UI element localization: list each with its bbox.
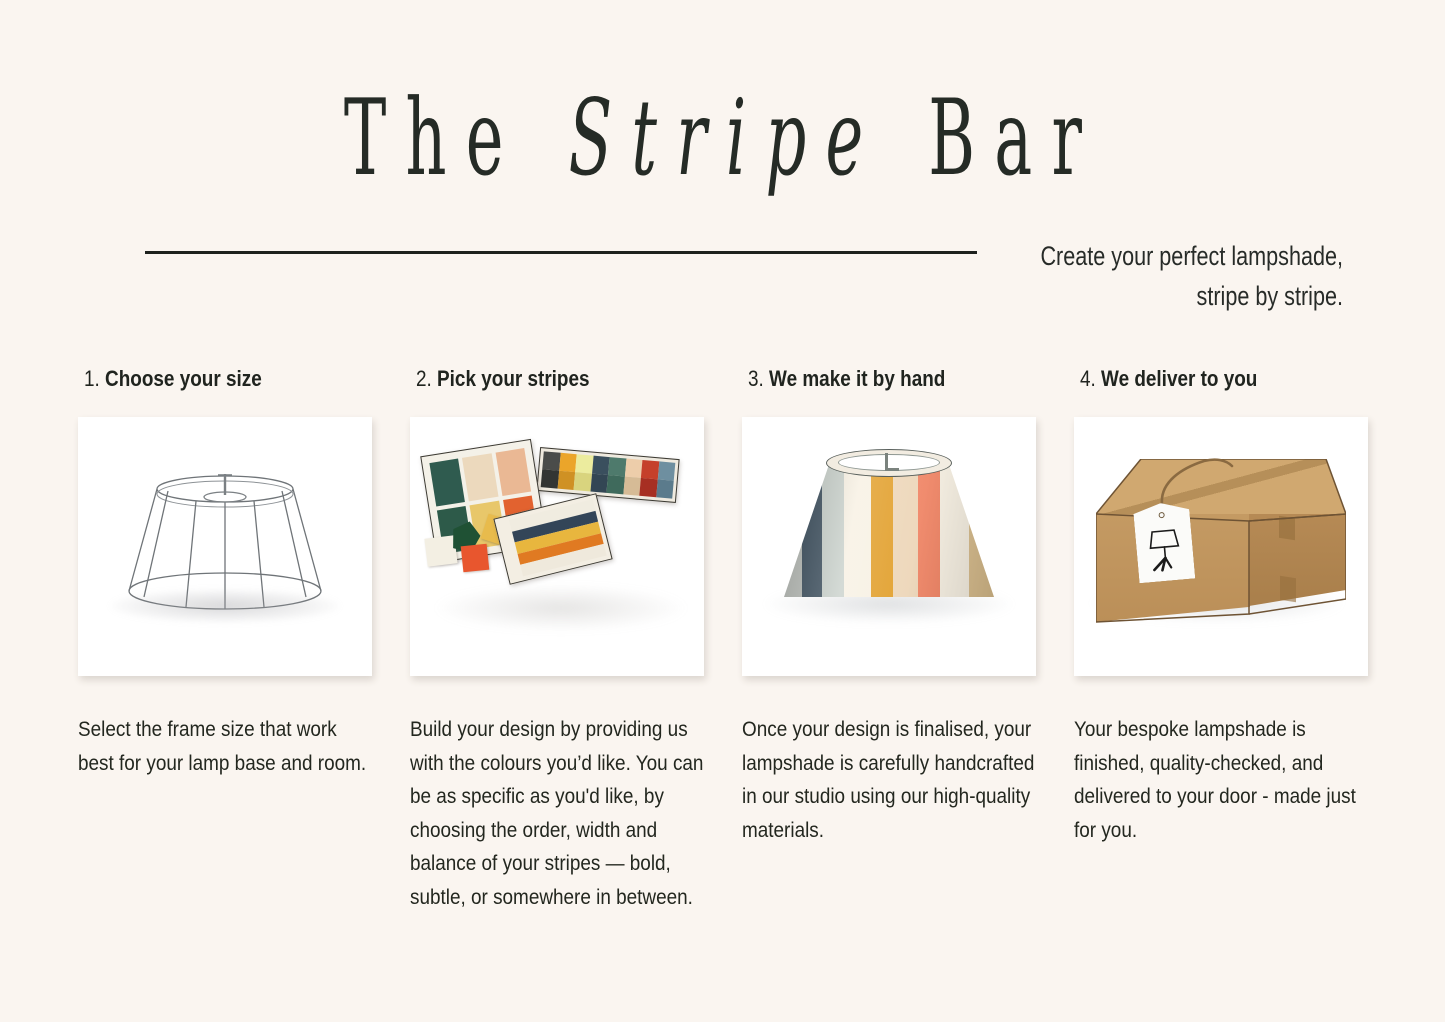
step-caption-4: Your bespoke lampshade is finished, qual… (1074, 713, 1368, 847)
step-image-4 (1074, 417, 1368, 676)
step-heading-3: 3. We make it by hand (748, 366, 996, 392)
step-label-2: Pick your stripes (437, 366, 589, 391)
step-number-4: 4. (1080, 366, 1096, 391)
colour-swatches-icon (410, 417, 704, 676)
step-caption-1: Select the frame size that work best for… (78, 713, 372, 780)
step-number-3: 3. (748, 366, 764, 391)
step-column-2: 2. Pick your stripes (410, 366, 704, 914)
parcel-box-icon (1074, 417, 1368, 676)
tagline-line-2: stripe by stripe. (1007, 276, 1343, 316)
masthead: TheStripeBar (0, 86, 1445, 172)
step-caption-2: Build your design by providing us with t… (410, 713, 704, 914)
header-divider-row: Create your perfect lampshade, stripe by… (0, 236, 1445, 326)
parcel-string-svg (1152, 458, 1236, 506)
step-image-3 (742, 417, 1036, 676)
parcel-side-tape-upper (1279, 516, 1295, 541)
horizontal-rule (145, 251, 977, 254)
swatch-strip-card (536, 447, 679, 503)
step-number-1: 1. (84, 366, 100, 391)
loose-chip-orange (461, 544, 490, 573)
parcel-hang-tag (1133, 501, 1196, 584)
tagline-line-1: Create your perfect lampshade, (1007, 236, 1343, 276)
tagline: Create your perfect lampshade, stripe by… (1007, 236, 1343, 316)
loose-chip-cream (424, 535, 457, 566)
step-number-2: 2. (416, 366, 432, 391)
lamp-sketch-icon (1144, 523, 1186, 574)
step-label-4: We deliver to you (1101, 366, 1257, 391)
step-heading-2: 2. Pick your stripes (416, 366, 664, 392)
wireframe-lampshade-icon (78, 417, 372, 676)
poster-page: TheStripeBar Create your perfect lampsha… (0, 0, 1445, 1022)
step-heading-1: 1. Choose your size (84, 366, 332, 392)
shade-fitter-arm (885, 468, 899, 471)
tag-eyelet (1158, 512, 1165, 519)
steps-row: 1. Choose your size (78, 366, 1344, 914)
swatches-ground-shadow (436, 585, 686, 631)
step-caption-3: Once your design is finalised, your lamp… (742, 713, 1036, 847)
step-column-3: 3. We make it by hand (742, 366, 1036, 914)
step-label-1: Choose your size (105, 366, 262, 391)
step-heading-4: 4. We deliver to you (1080, 366, 1328, 392)
title-word-stripe: Stripe (569, 77, 883, 199)
wireframe-ground-shadow (110, 589, 340, 623)
wireframe-lampshade-svg (78, 417, 372, 676)
step-image-1 (78, 417, 372, 676)
step-column-1: 1. Choose your size (78, 366, 372, 914)
title-word-bar: Bar (928, 77, 1101, 199)
swatch-stripe-bands (509, 499, 606, 576)
striped-lampshade-icon (742, 417, 1036, 676)
step-column-4: 4. We deliver to you (1074, 366, 1368, 914)
shade-stripes (784, 461, 994, 597)
parcel-side-tape-lower (1280, 576, 1296, 603)
title-word-the: The (344, 77, 523, 199)
swatch-strip-cells (541, 451, 676, 498)
step-image-2 (410, 417, 704, 676)
page-title: TheStripeBar (188, 86, 1257, 191)
step-label-3: We make it by hand (769, 366, 945, 391)
